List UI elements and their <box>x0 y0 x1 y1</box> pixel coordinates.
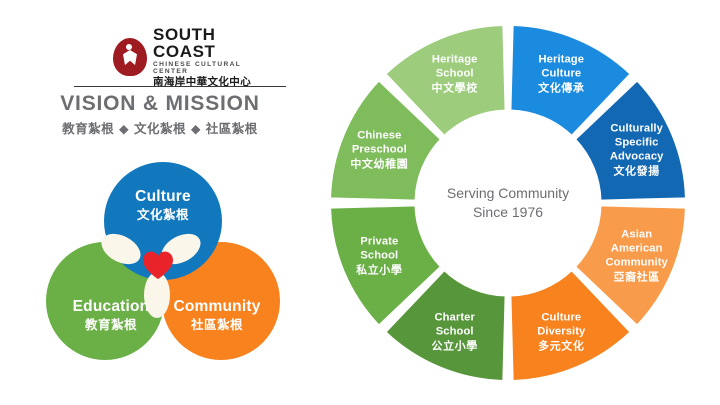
infographic-canvas: SOUTH COAST CHINESE CULTURAL CENTER 南海岸中… <box>0 0 720 405</box>
services-donut-chart: Serving Community Since 1976 HeritageCul… <box>318 18 698 388</box>
logo-wordmark: SOUTH COAST CHINESE CULTURAL CENTER 南海岸中… <box>153 26 273 88</box>
venn-education-label-en: Education <box>73 298 150 315</box>
donut-center-line2: Since 1976 <box>428 203 588 222</box>
south-coast-crane-logo-icon <box>113 36 147 78</box>
logo-figure-body <box>123 50 137 65</box>
page-title: VISION & MISSION <box>0 92 320 116</box>
donut-center-label: Serving Community Since 1976 <box>428 184 588 222</box>
venn-community-label-en: Community <box>173 298 260 315</box>
heart-icon <box>142 250 174 280</box>
header-divider <box>74 86 286 87</box>
venn-education-label-cn: 教育紮根 <box>85 318 137 332</box>
logo-subtitle: CHINESE CULTURAL CENTER <box>153 62 273 75</box>
logo-figure-head <box>126 44 132 50</box>
venn-community-label-cn: 社區紮根 <box>191 318 243 332</box>
organization-logo: SOUTH COAST CHINESE CULTURAL CENTER 南海岸中… <box>113 34 273 80</box>
logo-figure-glyph <box>122 44 138 68</box>
venn-culture-label-cn: 文化紮根 <box>137 208 189 222</box>
page-subtitle: 教育紮根 ◆ 文化紮根 ◆ 社區紮根 <box>0 118 320 137</box>
vision-mission-panel: SOUTH COAST CHINESE CULTURAL CENTER 南海岸中… <box>0 0 320 405</box>
venn-culture-label-en: Culture <box>135 188 191 205</box>
logo-title: SOUTH COAST <box>153 26 273 60</box>
venn-diagram: Culture 文化紮根 Education 教育紮根 Community 社區… <box>38 162 288 367</box>
donut-center-line1: Serving Community <box>428 184 588 203</box>
